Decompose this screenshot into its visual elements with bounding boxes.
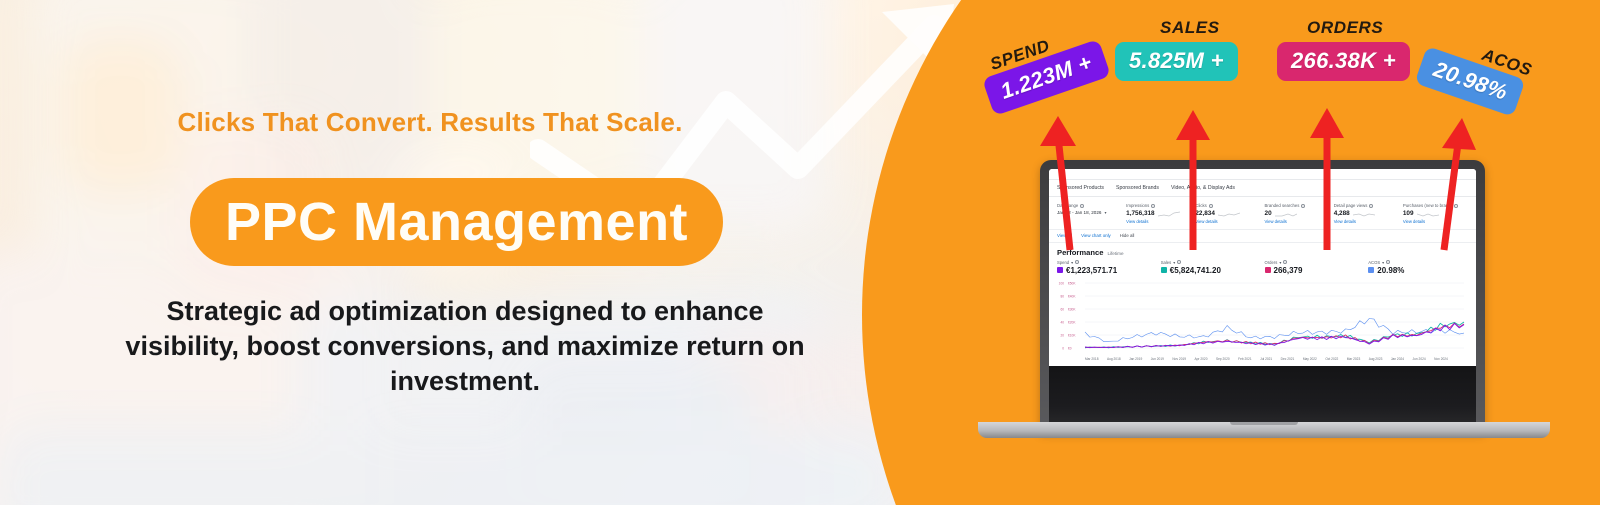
series-color-swatch (1265, 267, 1271, 273)
tab-video-audio-display-ads[interactable]: Video, Audio, & Display Ads (1171, 185, 1235, 191)
series-label: ACOS (1368, 260, 1380, 265)
kpi-badge-sales: SALES 5.825M + (1115, 42, 1238, 81)
series-spend[interactable]: Spend ▾ €1,223,571.71 (1057, 260, 1157, 275)
svg-text:€0: €0 (1068, 346, 1072, 350)
svg-text:€10K: €10K (1068, 333, 1076, 337)
info-icon[interactable] (1301, 204, 1305, 208)
kpi-caption-orders: ORDERS (1307, 18, 1383, 38)
chevron-down-icon[interactable]: ▾ (1382, 260, 1384, 265)
metric-value: 109 (1403, 210, 1414, 217)
performance-title: Performance (1057, 248, 1103, 257)
series-orders[interactable]: Orders ▾ 266,379 (1265, 260, 1365, 275)
metric-purchases-new-to-brand: Purchases (new to brand) 109 View detail… (1403, 203, 1468, 224)
svg-text:€20K: €20K (1068, 320, 1076, 324)
laptop-mockup: Sponsored Products Sponsored Brands Vide… (1040, 160, 1485, 450)
chart-x-tick: Jan 2024 (1391, 357, 1404, 361)
view-details-link[interactable]: View details (1265, 219, 1330, 224)
metric-impressions: Impressions 1,756,318 View details (1126, 203, 1191, 224)
svg-text:100: 100 (1059, 281, 1065, 285)
hide-all-link[interactable]: Hide all (1120, 233, 1135, 238)
date-range-label: Date range (1057, 203, 1078, 208)
chart-x-tick: Aug 2023 (1369, 357, 1383, 361)
info-icon[interactable] (1369, 204, 1373, 208)
chart-x-tick: Jun 2019 (1151, 357, 1164, 361)
metric-date-range[interactable]: Date range Jan 12 - Jan 18, 2026 ▾ (1057, 203, 1122, 224)
series-value: €5,824,741.20 (1170, 266, 1221, 275)
dashboard-topbar (1049, 169, 1476, 180)
performance-series-row: Spend ▾ €1,223,571.71 Sales (1049, 259, 1476, 278)
svg-text:€50K: €50K (1068, 281, 1076, 285)
chart-x-tick: Nov 2024 (1434, 357, 1448, 361)
series-value: 266,379 (1274, 266, 1303, 275)
view-details-link[interactable]: View details (1334, 219, 1399, 224)
hero-eyebrow: Clicks That Convert. Results That Scale. (0, 107, 860, 138)
performance-line-chart: 100€50K80€40K60€30K40€20K20€10K0€0 (1055, 280, 1470, 352)
series-value: 20.98% (1377, 266, 1404, 275)
svg-text:20: 20 (1060, 333, 1064, 337)
series-value: €1,223,571.71 (1066, 266, 1117, 275)
svg-text:0: 0 (1062, 346, 1064, 350)
series-color-swatch (1057, 267, 1063, 273)
chart-x-tick: Feb 2021 (1238, 357, 1251, 361)
metric-value: 22,834 (1195, 210, 1215, 217)
tab-sponsored-brands[interactable]: Sponsored Brands (1116, 185, 1159, 191)
performance-chart: 100€50K80€40K60€30K40€20K20€10K0€0 Mar 2… (1049, 278, 1476, 361)
chart-x-tick: Jan 2019 (1129, 357, 1142, 361)
kpi-value-sales: 5.825M + (1115, 42, 1238, 81)
chevron-down-icon[interactable]: ▾ (1071, 260, 1073, 265)
sparkline-icon (1275, 211, 1297, 217)
view-details-link[interactable]: View details (1126, 219, 1191, 224)
svg-text:€40K: €40K (1068, 294, 1076, 298)
dashboard-tabs[interactable]: Sponsored Products Sponsored Brands Vide… (1049, 180, 1476, 197)
info-icon[interactable] (1209, 204, 1213, 208)
page-title: PPC Management (225, 191, 688, 253)
chart-x-tick: Jul 2021 (1260, 357, 1272, 361)
series-label: Orders (1265, 260, 1278, 265)
chart-x-tick: Dec 2021 (1281, 357, 1295, 361)
view-controls: View all View chart only Hide all (1049, 230, 1476, 243)
metric-label: Impressions (1126, 203, 1149, 208)
chart-x-tick: Oct 2022 (1325, 357, 1338, 361)
info-icon[interactable] (1283, 260, 1287, 264)
series-acos[interactable]: ACOS ▾ 20.98% (1368, 260, 1468, 275)
series-sales[interactable]: Sales ▾ €5,824,741.20 (1161, 260, 1261, 275)
chart-x-tick: May 2022 (1303, 357, 1317, 361)
sparkline-icon (1417, 211, 1439, 217)
sparkline-icon (1353, 211, 1375, 217)
chart-x-tick: Aug 2018 (1107, 357, 1121, 361)
view-details-link[interactable]: View details (1195, 219, 1260, 224)
metric-detail-page-views: Detail page views 4,288 View details (1334, 203, 1399, 224)
metric-label: Purchases (new to brand) (1403, 203, 1452, 208)
info-icon[interactable] (1454, 204, 1458, 208)
metric-value: 20 (1265, 210, 1272, 217)
info-icon[interactable] (1386, 260, 1390, 264)
metric-value: 4,288 (1334, 210, 1350, 217)
info-icon[interactable] (1080, 204, 1084, 208)
chart-x-tick: Sep 2020 (1216, 357, 1230, 361)
view-all-link[interactable]: View all (1057, 233, 1072, 238)
chevron-down-icon[interactable]: ▾ (1173, 260, 1175, 265)
tab-sponsored-products[interactable]: Sponsored Products (1057, 185, 1104, 191)
series-label: Sales (1161, 260, 1171, 265)
chart-x-tick: Apr 2020 (1195, 357, 1208, 361)
chart-x-tick: Jun 2024 (1413, 357, 1426, 361)
laptop-keyboard (1049, 366, 1476, 424)
svg-text:80: 80 (1060, 294, 1064, 298)
hero-copy: Clicks That Convert. Results That Scale.… (0, 0, 860, 505)
kpi-badge-orders: ORDERS 266.38K + (1277, 42, 1410, 81)
metric-value: 1,756,318 (1126, 210, 1154, 217)
chart-x-tick: Nov 2019 (1172, 357, 1186, 361)
series-label: Spend (1057, 260, 1069, 265)
hero-title-pill: PPC Management (190, 178, 723, 266)
laptop-base (978, 422, 1550, 438)
series-color-swatch (1161, 267, 1167, 273)
performance-header: Performance Lifetime (1049, 243, 1476, 259)
metric-branded-searches: Branded searches 20 View details (1265, 203, 1330, 224)
series-color-swatch (1368, 267, 1374, 273)
chart-x-axis: Mar 2018Aug 2018Jan 2019Jun 2019Nov 2019… (1055, 357, 1470, 361)
sparkline-icon (1218, 211, 1240, 217)
date-range-value: Jan 12 - Jan 18, 2026 (1057, 210, 1101, 215)
view-details-link[interactable]: View details (1403, 219, 1468, 224)
view-chart-only-link[interactable]: View chart only (1081, 233, 1111, 238)
info-icon[interactable] (1151, 204, 1155, 208)
hero-description: Strategic ad optimization designed to en… (110, 294, 820, 399)
ppc-management-banner: Clicks That Convert. Results That Scale.… (0, 0, 1600, 505)
chart-x-tick: Mar 2018 (1085, 357, 1098, 361)
svg-text:40: 40 (1060, 320, 1064, 324)
metric-clicks: Clicks 22,834 View details (1195, 203, 1260, 224)
chevron-down-icon[interactable]: ▾ (1279, 260, 1281, 265)
metric-label: Detail page views (1334, 203, 1368, 208)
performance-subtitle: Lifetime (1107, 251, 1123, 256)
chart-x-tick: Mar 2023 (1347, 357, 1360, 361)
info-icon[interactable] (1177, 260, 1181, 264)
kpi-value-orders: 266.38K + (1277, 42, 1410, 81)
info-icon[interactable] (1075, 260, 1079, 264)
svg-text:60: 60 (1060, 307, 1064, 311)
metric-label: Branded searches (1265, 203, 1300, 208)
sparkline-icon (1158, 211, 1180, 217)
svg-text:€30K: €30K (1068, 307, 1076, 311)
chevron-down-icon[interactable]: ▾ (1104, 210, 1106, 215)
metric-summary-row: Date range Jan 12 - Jan 18, 2026 ▾ Impre… (1049, 197, 1476, 230)
kpi-caption-sales: SALES (1160, 18, 1220, 38)
metric-label: Clicks (1195, 203, 1206, 208)
